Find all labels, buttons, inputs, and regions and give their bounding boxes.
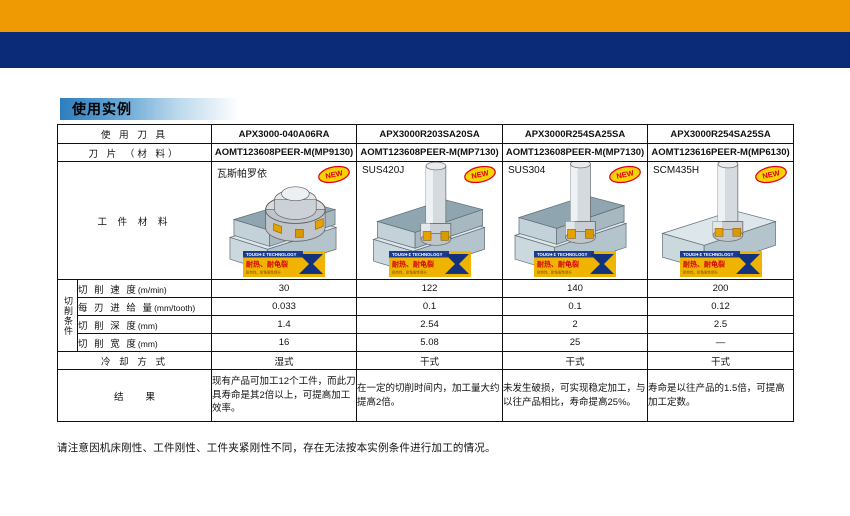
cutting-conditions-text: 切削条件 bbox=[63, 296, 72, 336]
material-name-4: SCM435H bbox=[653, 165, 699, 176]
coolant-col-3: 干式 bbox=[503, 352, 648, 370]
material-name-2: SUS420J bbox=[362, 165, 404, 176]
width-of-cut-col-1: 16 bbox=[212, 334, 357, 352]
table-row-workpiece-material: 工 件 材 料 瓦斯帕罗依 NEW bbox=[58, 162, 794, 280]
svg-text:耐热性、耐龟裂性提升: 耐热性、耐龟裂性提升 bbox=[392, 270, 427, 275]
illustration-cell-3: SUS304 NEW bbox=[503, 162, 648, 280]
depth-of-cut-col-3: 2 bbox=[503, 316, 648, 334]
coolant-col-4: 干式 bbox=[648, 352, 794, 370]
material-name-1: 瓦斯帕罗依 bbox=[217, 165, 267, 180]
insert-name-col-3: AOMT123608PEER-M(MP7130) bbox=[503, 144, 648, 162]
depth-of-cut-col-1: 1.4 bbox=[212, 316, 357, 334]
row-label-cutting-conditions: 切削条件 bbox=[58, 280, 78, 352]
svg-text:TOUGH-Σ TECHNOLOGY: TOUGH-Σ TECHNOLOGY bbox=[683, 252, 734, 257]
section-title-bar: 使用实例 bbox=[60, 98, 240, 120]
row-label-width-of-cut: 切 削 宽 度(mm) bbox=[78, 334, 212, 352]
table-row-coolant: 冷 却 方 式 湿式 干式 干式 干式 bbox=[58, 352, 794, 370]
feed-per-tooth-col-2: 0.1 bbox=[357, 298, 503, 316]
insert-name-col-1: AOMT123608PEER-M(MP9130) bbox=[212, 144, 357, 162]
svg-text:TOUGH-Σ TECHNOLOGY: TOUGH-Σ TECHNOLOGY bbox=[392, 252, 443, 257]
depth-of-cut-col-2: 2.54 bbox=[357, 316, 503, 334]
row-label-result: 结果 bbox=[58, 370, 212, 422]
svg-text:耐热性、耐龟裂性提升: 耐热性、耐龟裂性提升 bbox=[537, 270, 572, 275]
svg-text:耐热性、耐龟裂性提升: 耐热性、耐龟裂性提升 bbox=[683, 270, 718, 275]
depth-of-cut-text: 切 削 深 度 bbox=[78, 321, 138, 332]
insert-name-col-2: AOMT123608PEER-M(MP7130) bbox=[357, 144, 503, 162]
new-badge-icon-4: NEW bbox=[754, 165, 788, 184]
tool-name-col-1: APX3000-040A06RA bbox=[212, 125, 357, 144]
top-navy-band bbox=[0, 32, 850, 68]
illustration-cell-1: 瓦斯帕罗依 NEW bbox=[212, 162, 357, 280]
illustration-cell-4: SCM435H NEW bbox=[648, 162, 794, 280]
width-of-cut-col-3: 25 bbox=[503, 334, 648, 352]
width-of-cut-unit: (mm) bbox=[138, 339, 158, 349]
table-row-width-of-cut: 切 削 宽 度(mm) 16 5.08 25 — bbox=[58, 334, 794, 352]
new-badge-icon-2: NEW bbox=[463, 165, 497, 184]
row-label-tool: 使 用 刀 具 bbox=[58, 125, 212, 144]
material-name-3: SUS304 bbox=[508, 165, 545, 176]
feed-per-tooth-unit: (mm/tooth) bbox=[154, 303, 195, 313]
tough-sigma-badge-1: TOUGH-Σ TECHNOLOGY 耐热、耐龟裂 耐热性、耐龟裂性提升 bbox=[243, 251, 325, 277]
tool-name-col-2: APX3000R203SA20SA bbox=[357, 125, 503, 144]
section-title-text: 使用实例 bbox=[60, 99, 132, 119]
result-col-2: 在一定的切削时间内，加工量大约提高2倍。 bbox=[357, 370, 503, 422]
table-row-insert: 刀 片 （材 料） AOMT123608PEER-M(MP9130) AOMT1… bbox=[58, 144, 794, 162]
row-label-coolant: 冷 却 方 式 bbox=[58, 352, 212, 370]
application-examples-table: 使 用 刀 具 APX3000-040A06RA APX3000R203SA20… bbox=[57, 124, 794, 422]
cutting-speed-col-2: 122 bbox=[357, 280, 503, 298]
insert-name-col-4: AOMT123616PEER-M(MP6130) bbox=[648, 144, 794, 162]
row-label-feed-per-tooth: 每 刃 进 给 量(mm/tooth) bbox=[78, 298, 212, 316]
tough-sigma-badge-2: TOUGH-Σ TECHNOLOGY 耐热、耐龟裂 耐热性、耐龟裂性提升 bbox=[389, 251, 471, 277]
result-col-4: 寿命是以往产品的1.5倍，可提高加工定数。 bbox=[648, 370, 794, 422]
page-root: 使用实例 使 用 刀 具 APX3000-040A06RA APX3000R20… bbox=[0, 0, 850, 516]
depth-of-cut-unit: (mm) bbox=[138, 321, 158, 331]
table-row-feed-per-tooth: 每 刃 进 给 量(mm/tooth) 0.033 0.1 0.1 0.12 bbox=[58, 298, 794, 316]
top-orange-band bbox=[0, 0, 850, 32]
new-badge-icon-1: NEW bbox=[317, 165, 351, 184]
table-row-result: 结果 现有产品可加工12个工件，而此刀具寿命是其2倍以上，可提高加工效率。 在一… bbox=[58, 370, 794, 422]
result-col-1: 现有产品可加工12个工件，而此刀具寿命是其2倍以上，可提高加工效率。 bbox=[212, 370, 357, 422]
row-label-workpiece-material: 工 件 材 料 bbox=[58, 162, 212, 280]
coolant-col-2: 干式 bbox=[357, 352, 503, 370]
row-label-cutting-speed: 切 削 速 度(m/min) bbox=[78, 280, 212, 298]
table-row-tool: 使 用 刀 具 APX3000-040A06RA APX3000R203SA20… bbox=[58, 125, 794, 144]
cutting-speed-col-1: 30 bbox=[212, 280, 357, 298]
width-of-cut-col-2: 5.08 bbox=[357, 334, 503, 352]
feed-per-tooth-text: 每 刃 进 给 量 bbox=[78, 303, 154, 314]
cutting-speed-text: 切 削 速 度 bbox=[78, 285, 138, 296]
tool-name-col-4: APX3000R254SA25SA bbox=[648, 125, 794, 144]
new-badge-icon-3: NEW bbox=[608, 165, 642, 184]
depth-of-cut-col-4: 2.5 bbox=[648, 316, 794, 334]
result-col-3: 未发生破损，可实现稳定加工，与以往产品相比，寿命提高25%。 bbox=[503, 370, 648, 422]
table-row-depth-of-cut: 切 削 深 度(mm) 1.4 2.54 2 2.5 bbox=[58, 316, 794, 334]
footer-note: 请注意因机床刚性、工件刚性、工件夹紧刚性不同，存在无法按本实例条件进行加工的情况… bbox=[57, 440, 496, 455]
row-label-depth-of-cut: 切 削 深 度(mm) bbox=[78, 316, 212, 334]
tool-name-col-3: APX3000R254SA25SA bbox=[503, 125, 648, 144]
tough-sigma-badge-4: TOUGH-Σ TECHNOLOGY 耐热、耐龟裂 耐热性、耐龟裂性提升 bbox=[680, 251, 762, 277]
feed-per-tooth-col-3: 0.1 bbox=[503, 298, 648, 316]
width-of-cut-col-4: — bbox=[648, 334, 794, 352]
svg-text:TOUGH-Σ TECHNOLOGY: TOUGH-Σ TECHNOLOGY bbox=[246, 252, 297, 257]
width-of-cut-text: 切 削 宽 度 bbox=[78, 339, 138, 350]
feed-per-tooth-col-1: 0.033 bbox=[212, 298, 357, 316]
feed-per-tooth-col-4: 0.12 bbox=[648, 298, 794, 316]
cutting-speed-unit: (m/min) bbox=[138, 285, 167, 295]
coolant-col-1: 湿式 bbox=[212, 352, 357, 370]
cutting-speed-col-3: 140 bbox=[503, 280, 648, 298]
illustration-cell-2: SUS420J NEW bbox=[357, 162, 503, 280]
cutting-speed-col-4: 200 bbox=[648, 280, 794, 298]
table-row-cutting-speed: 切削条件 切 削 速 度(m/min) 30 122 140 200 bbox=[58, 280, 794, 298]
tough-sigma-badge-3: TOUGH-Σ TECHNOLOGY 耐热、耐龟裂 耐热性、耐龟裂性提升 bbox=[534, 251, 616, 277]
row-label-insert: 刀 片 （材 料） bbox=[58, 144, 212, 162]
svg-text:耐热性、耐龟裂性提升: 耐热性、耐龟裂性提升 bbox=[246, 270, 281, 275]
svg-text:TOUGH-Σ TECHNOLOGY: TOUGH-Σ TECHNOLOGY bbox=[537, 252, 588, 257]
